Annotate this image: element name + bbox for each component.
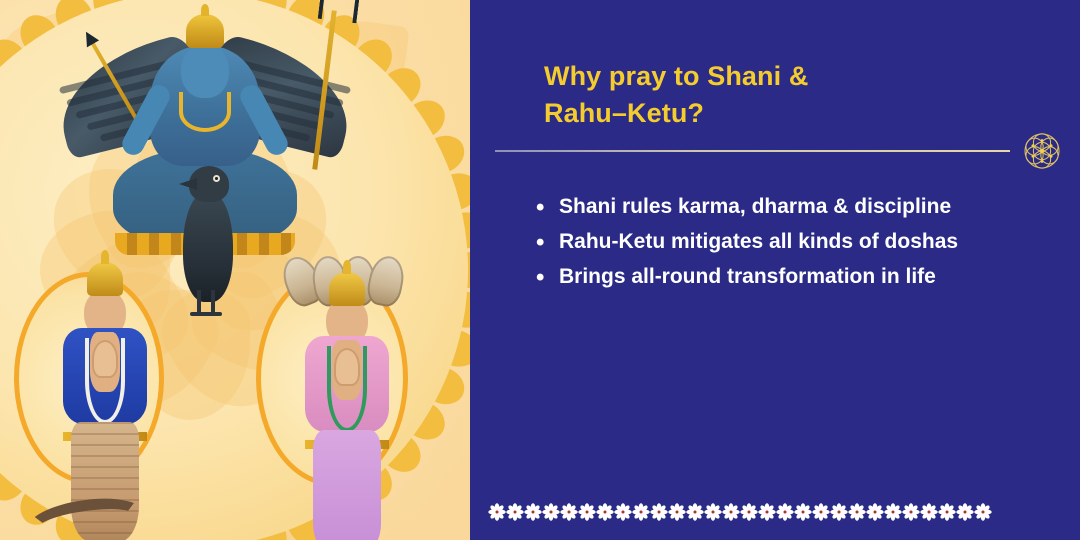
- artwork-panel: [0, 0, 470, 540]
- flower-icon: [578, 503, 596, 521]
- flower-icon: [866, 503, 884, 521]
- shani-head: [181, 44, 229, 98]
- flower-icon: [830, 503, 848, 521]
- flower-icon: [974, 503, 992, 521]
- ketu-crown: [87, 262, 123, 296]
- flower-icon: [704, 503, 722, 521]
- list-item: Rahu-Ketu mitigates all kinds of doshas: [532, 227, 1060, 258]
- divider-line: [495, 150, 1010, 152]
- flower-icon: [524, 503, 542, 521]
- title-line-1: Why pray to Shani &: [544, 61, 808, 91]
- flower-icon: [650, 503, 668, 521]
- flower-icon: [794, 503, 812, 521]
- mandala-icon: [1014, 123, 1070, 179]
- title-line-2: Rahu–Ketu?: [544, 95, 944, 132]
- flower-icon: [614, 503, 632, 521]
- divider: [495, 131, 1070, 171]
- flower-icon: [488, 503, 506, 521]
- flower-icon: [758, 503, 776, 521]
- flower-icon: [776, 503, 794, 521]
- flower-icon: [542, 503, 560, 521]
- slide-root: Why pray to Shani & Rahu–Ketu?: [0, 0, 1080, 540]
- flower-icon: [686, 503, 704, 521]
- flower-ornament-strip: [488, 492, 1072, 532]
- shani-necklace: [179, 92, 231, 132]
- flower-icon: [560, 503, 578, 521]
- flower-icon: [812, 503, 830, 521]
- ketu-namaste-hands: [94, 342, 116, 376]
- rahu-lower-garment: [313, 430, 381, 540]
- content-panel: Why pray to Shani & Rahu–Ketu?: [470, 0, 1080, 540]
- shani-crown: [186, 14, 224, 48]
- page-title: Why pray to Shani & Rahu–Ketu?: [544, 58, 944, 131]
- ketu-figure: [40, 262, 170, 540]
- list-item: Brings all-round transformation in life: [532, 262, 1060, 293]
- list-item: Shani rules karma, dharma & discipline: [532, 192, 1060, 223]
- flower-icon: [938, 503, 956, 521]
- benefits-list: Shani rules karma, dharma & disciplineRa…: [532, 192, 1060, 297]
- flower-icon: [902, 503, 920, 521]
- flower-icon: [740, 503, 758, 521]
- rahu-figure: [282, 258, 412, 540]
- flower-icon: [668, 503, 686, 521]
- flower-icon: [848, 503, 866, 521]
- flower-icon: [632, 503, 650, 521]
- rahu-namaste-hands: [336, 350, 358, 384]
- flower-icon: [596, 503, 614, 521]
- flower-icon: [722, 503, 740, 521]
- crow-vahana: [177, 166, 239, 316]
- flower-icon: [920, 503, 938, 521]
- flower-icon: [956, 503, 974, 521]
- flower-icon: [506, 503, 524, 521]
- flower-icon: [884, 503, 902, 521]
- rahu-crown: [329, 272, 365, 306]
